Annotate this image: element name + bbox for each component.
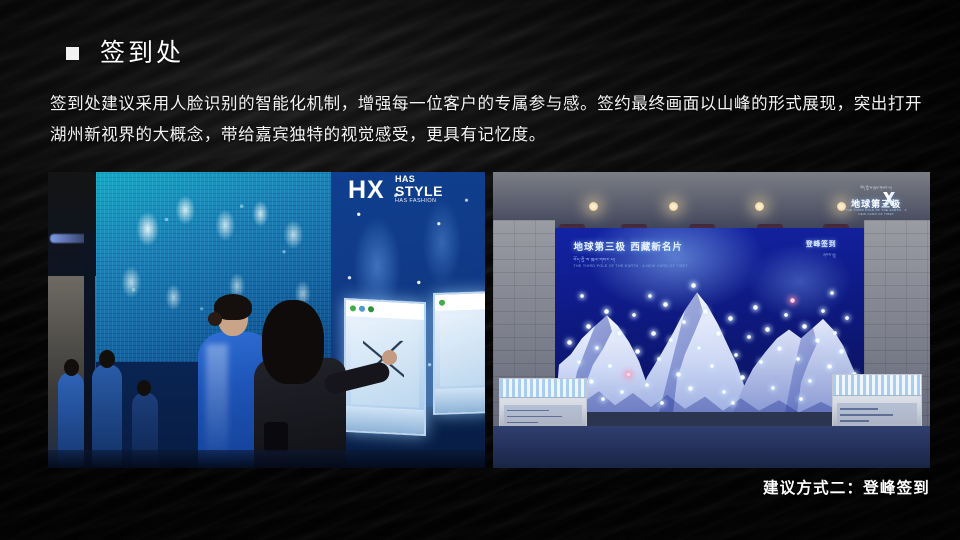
mountain-backdrop-screen: 地球第三极 西藏新名片 བོད་ཀྱི་ས་ཁུལ་གསར་པ། THE THI… — [555, 228, 864, 412]
stand-label-right — [837, 403, 917, 424]
background-guest-1-head — [64, 359, 79, 376]
bottle-row-right — [833, 375, 921, 396]
guest-handbag — [264, 422, 288, 452]
hx-brand-line3: HAS FASHION — [395, 199, 443, 205]
mountain-range-graphic — [555, 280, 864, 412]
backdrop-right-sublabel: ཞབས་ཞུ། — [823, 251, 836, 261]
ceiling-spotlight-1 — [589, 202, 598, 211]
brand-logo-top-tibetan: བོད་ཀྱི་ས་ཁུལ་གསར་པ། — [844, 184, 908, 194]
slide-root: 签到处 签到处建议采用人脸识别的智能化机制，增强每一位客户的专属参与感。签约最终… — [0, 0, 960, 540]
kiosk-base — [346, 406, 424, 434]
photo-row: HX HAS STYLE HAS FASHION — [48, 172, 930, 468]
right-photo-carpet — [493, 426, 930, 468]
product-display-stand-left — [499, 378, 587, 428]
kiosk-status-dot-green — [350, 305, 356, 311]
product-display-stand-right — [832, 374, 922, 428]
hx-brand-line2: STYLE — [395, 184, 443, 199]
stand-label-left — [504, 405, 582, 424]
page-title: 签到处 — [100, 40, 184, 65]
signing-kiosk-secondary[interactable] — [433, 291, 485, 415]
body-paragraph: 签到处建议采用人脸识别的智能化机制，增强每一位客户的专属参与感。签约最终画面以山… — [50, 88, 930, 150]
bottle-row-left — [500, 379, 586, 398]
hostess-gown-highlight — [206, 344, 228, 464]
kiosk-header-bar — [346, 300, 424, 320]
slide-caption: 建议方式二：登峰签到 — [763, 476, 930, 498]
ceiling-spotlight-2 — [669, 202, 678, 211]
hx-brand-block: HAS STYLE HAS FASHION — [395, 175, 443, 205]
kiosk2-status-dot — [439, 300, 445, 306]
guest-hair — [262, 300, 324, 384]
guest-hand — [382, 350, 397, 365]
slide-header: 签到处 — [66, 40, 184, 65]
backdrop-right-label: 登峰签到 — [806, 239, 836, 249]
hx-logo-text: HX — [348, 178, 385, 203]
kiosk2-canvas[interactable] — [440, 313, 484, 387]
square-bullet-icon — [66, 47, 79, 60]
kiosk-status-dot-blue — [359, 306, 365, 312]
event-brand-logo: བོད་ཀྱི་ས་ཁུལ་གསར་པ། 地球第三极 THE THIRD POL… — [844, 184, 908, 214]
hostess-hair-bun — [208, 312, 222, 326]
kiosk2-header-bar — [435, 293, 485, 311]
backdrop-banner-title: 地球第三极 西藏新名片 — [574, 239, 683, 253]
face-recognition-signing-photo: HX HAS STYLE HAS FASHION — [48, 172, 485, 468]
left-photo-floor — [48, 450, 485, 468]
kiosk2-base — [435, 387, 485, 413]
kiosk-status-dot-green-2 — [368, 306, 374, 312]
mountain-peak-signing-photo: 地球第三极 西藏新名片 བོད་ཀྱི་ས་ཁུལ་གསར་པ། THE THI… — [493, 172, 930, 468]
ceiling-spotlight-3 — [755, 202, 764, 211]
brand-logo-english: THE THIRD POLE OF THE EARTH · A NEW CARD… — [844, 208, 908, 216]
background-guest-3-head — [137, 380, 151, 396]
background-guest-2-head — [99, 350, 115, 368]
backdrop-banner-english: THE THIRD POLE OF THE EARTH · A NEW CARD… — [574, 264, 688, 268]
